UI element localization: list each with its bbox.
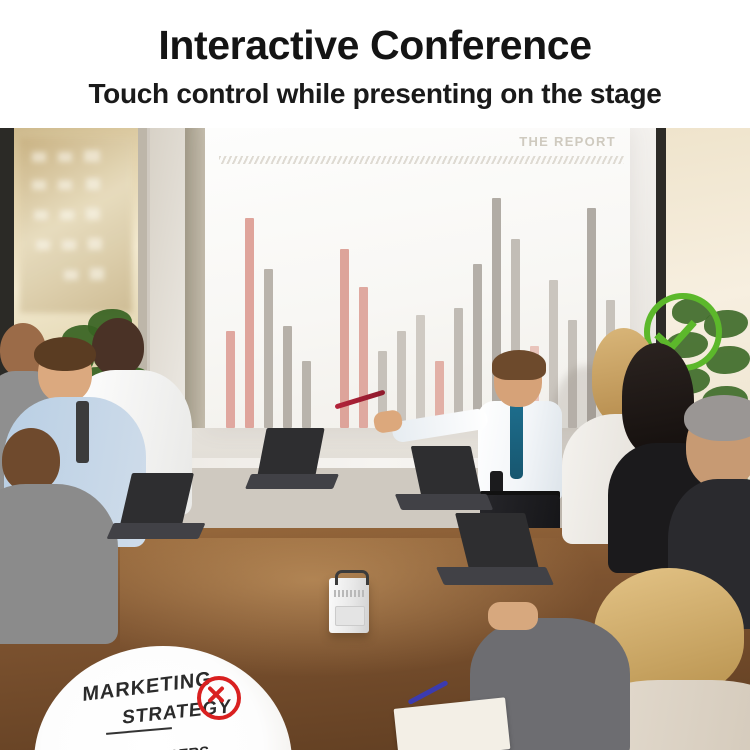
product-banner: Interactive Conference Touch control whi…: [0, 0, 750, 750]
attendee-hair: [684, 395, 750, 441]
slide-hatch-rule: [219, 156, 624, 164]
chart-bar: [454, 308, 463, 428]
laptop-base: [395, 494, 493, 510]
chart-bar: [416, 315, 425, 428]
presenter-tie: [510, 405, 523, 479]
attendee-head: [2, 428, 60, 492]
laptop-lid: [455, 513, 539, 569]
laptop-base: [245, 474, 339, 489]
attendee-right-gray-hair: [678, 403, 750, 593]
slide-title: THE REPORT: [519, 134, 616, 149]
chart-bar: [245, 218, 254, 428]
chart-bar: [264, 269, 273, 428]
conference-room-photo: THE REPORT: [0, 128, 750, 750]
page-title: Interactive Conference: [0, 22, 750, 69]
attendee-left-front: [0, 428, 120, 628]
attendee-hair: [34, 337, 96, 371]
whiteboard-item-1: 1. INFLUENCERS: [86, 743, 209, 750]
whiteboard-underline: [106, 727, 172, 735]
attendee-hand: [488, 602, 538, 630]
projector-lens: [335, 606, 365, 626]
attendee-torso: [0, 484, 118, 644]
laptop-lid: [411, 446, 482, 496]
chart-bar: [283, 326, 292, 428]
page-subtitle: Touch control while presenting on the st…: [0, 78, 750, 110]
mini-projector: [329, 578, 369, 633]
presenter-hair: [492, 350, 546, 380]
laptop-base: [436, 567, 554, 585]
laptop-right-1: [398, 446, 490, 520]
chart-bar: [226, 331, 235, 428]
laptop-right-2: [440, 513, 550, 595]
chart-bar: [359, 287, 368, 428]
chart-bar: [302, 361, 311, 428]
laptop-left-2: [248, 428, 336, 498]
laptop-lid: [257, 428, 324, 476]
cross-circle-icon: [197, 676, 241, 720]
projector-vent: [334, 590, 364, 597]
header-block: Interactive Conference Touch control whi…: [0, 0, 750, 128]
laptop-left-1: [110, 473, 202, 545]
laptop-lid: [120, 473, 194, 525]
laptop-base: [106, 523, 205, 539]
projector-handle: [335, 570, 369, 585]
